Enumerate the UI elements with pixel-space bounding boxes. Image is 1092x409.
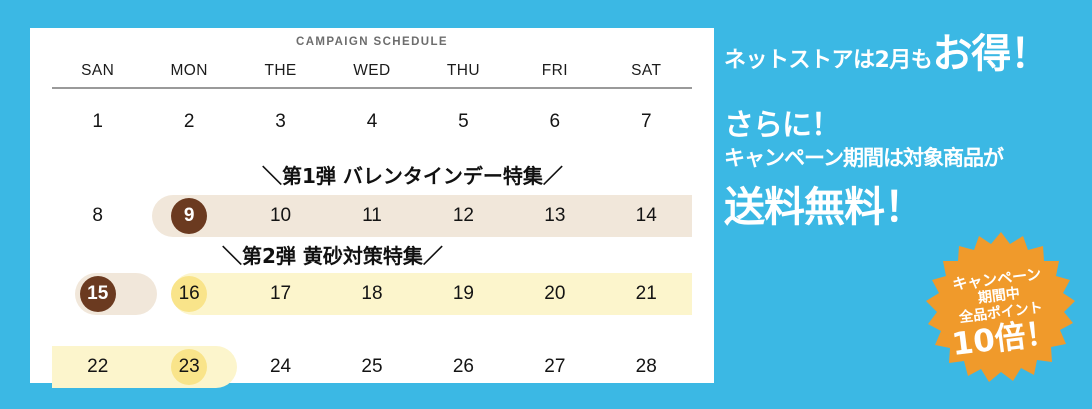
day-number: 20 [544, 283, 565, 305]
day-number: 19 [453, 283, 474, 305]
promo-sub-1: さらに！ [724, 100, 840, 144]
day-cell-26[interactable]: 26 [418, 346, 509, 388]
promo-headline-small: ネットストアは2月も [724, 42, 932, 74]
day-cell-7[interactable]: 7 [601, 101, 692, 143]
day-number: 10 [270, 205, 291, 227]
day-number: 1 [92, 111, 103, 133]
day-cell-24[interactable]: 24 [235, 346, 326, 388]
day-cell-16[interactable]: 16 [143, 273, 234, 315]
badge-text-block: キャンペーン 期間中 全品ポイント 10倍！ [908, 219, 1092, 408]
weekday-mon: MON [143, 57, 234, 85]
day-number: 2 [184, 111, 195, 133]
day-number: 6 [550, 111, 561, 133]
day-cell-1[interactable]: 1 [52, 101, 143, 143]
day-cell-22[interactable]: 22 [52, 346, 143, 388]
weekday-wed: WED [326, 57, 417, 85]
day-cell-17[interactable]: 17 [235, 273, 326, 315]
day-cell-11[interactable]: 11 [326, 195, 417, 237]
weekday-sat: SAT [601, 57, 692, 85]
week-row-3: 15 16 17 18 19 20 21 [52, 273, 692, 315]
day-number: 25 [361, 356, 382, 378]
day-number: 17 [270, 283, 291, 305]
day-cell-10[interactable]: 10 [235, 195, 326, 237]
promo-headline-big: お得！ [932, 34, 1049, 74]
day-cell-13[interactable]: 13 [509, 195, 600, 237]
day-cell-25[interactable]: 25 [326, 346, 417, 388]
day-number: 8 [92, 205, 103, 227]
day-number: 11 [362, 205, 382, 227]
day-number: 4 [367, 111, 378, 133]
day-cell-2[interactable]: 2 [143, 101, 234, 143]
day-number: 7 [641, 111, 652, 133]
weekday-thu: THU [418, 57, 509, 85]
day-cell-3[interactable]: 3 [235, 101, 326, 143]
day-number: 21 [636, 283, 657, 305]
day-cell-5[interactable]: 5 [418, 101, 509, 143]
campaign-banner: CAMPAIGN SCHEDULE SAN MON THE WED THU FR… [0, 0, 1092, 409]
promo-headline: ネットストアは2月も お得！ [724, 34, 1092, 78]
day-cell-18[interactable]: 18 [326, 273, 417, 315]
day-number: 28 [636, 356, 657, 378]
campaign-label-2: ＼第2弾 黄砂対策特集／ [222, 243, 443, 269]
day-cell-8[interactable]: 8 [52, 195, 143, 237]
promo-sub-3: 送料無料！ [724, 173, 924, 233]
points-starburst-badge[interactable]: キャンペーン 期間中 全品ポイント 10倍！ [918, 228, 1084, 398]
day-cell-19[interactable]: 19 [418, 273, 509, 315]
day-cell-15[interactable]: 15 [52, 273, 143, 315]
day-number: 27 [544, 356, 565, 378]
calendar-title: CAMPAIGN SCHEDULE [30, 36, 714, 48]
day-number: 14 [636, 205, 657, 227]
day-number: 5 [458, 111, 469, 133]
day-cell-21[interactable]: 21 [601, 273, 692, 315]
day-number: 15 [87, 283, 108, 305]
week-row-1: 1 2 3 4 5 6 7 [52, 101, 692, 143]
day-cell-4[interactable]: 4 [326, 101, 417, 143]
week-row-4: 22 23 24 25 26 27 28 [52, 346, 692, 388]
day-number: 23 [179, 356, 200, 378]
day-number: 3 [275, 111, 286, 133]
weekday-header-row: SAN MON THE WED THU FRI SAT [52, 57, 692, 85]
day-cell-28[interactable]: 28 [601, 346, 692, 388]
promo-sub-2: キャンペーン期間は対象商品が [724, 142, 1003, 172]
day-number: 18 [361, 283, 382, 305]
weekday-sun: SAN [52, 57, 143, 85]
day-number: 26 [453, 356, 474, 378]
day-cell-27[interactable]: 27 [509, 346, 600, 388]
day-cell-23[interactable]: 23 [143, 346, 234, 388]
day-number: 24 [270, 356, 291, 378]
day-cell-12[interactable]: 12 [418, 195, 509, 237]
day-cell-14[interactable]: 14 [601, 195, 692, 237]
header-divider [52, 87, 692, 89]
campaign-label-1: ＼第1弾 バレンタインデー特集／ [262, 163, 563, 189]
week-row-2: 8 9 10 11 12 13 14 [52, 195, 692, 237]
day-number: 13 [544, 205, 565, 227]
day-number: 16 [179, 283, 200, 305]
weekday-tue: THE [235, 57, 326, 85]
day-cell-6[interactable]: 6 [509, 101, 600, 143]
day-cell-20[interactable]: 20 [509, 273, 600, 315]
calendar-card: CAMPAIGN SCHEDULE SAN MON THE WED THU FR… [30, 28, 714, 383]
weekday-fri: FRI [509, 57, 600, 85]
day-number: 12 [453, 205, 474, 227]
day-number: 22 [87, 356, 108, 378]
day-cell-9[interactable]: 9 [143, 195, 234, 237]
day-number: 9 [184, 205, 195, 227]
